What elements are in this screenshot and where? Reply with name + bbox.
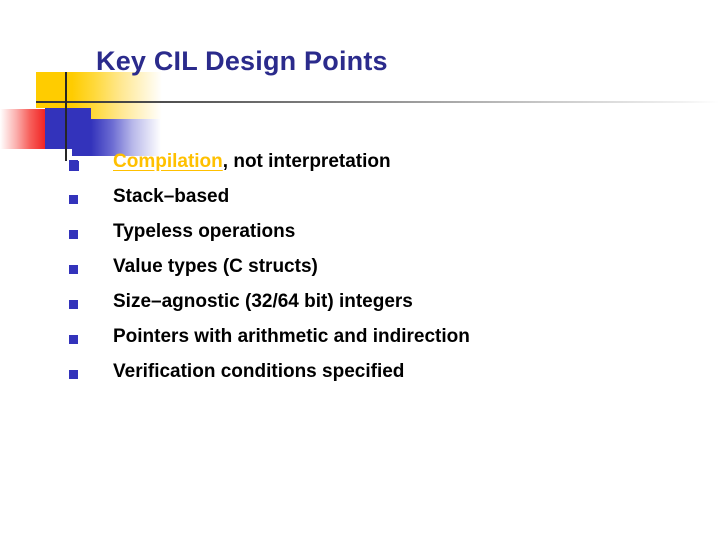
- list-item: Pointers with arithmetic and indirection: [0, 323, 719, 358]
- horizontal-rule: [36, 101, 719, 103]
- bullet-item-text: Stack–based: [113, 183, 229, 211]
- bullet-square-icon: [69, 300, 78, 309]
- list-item: Compilation, not interpretation: [0, 148, 719, 183]
- list-item: Typeless operations: [0, 218, 719, 253]
- blue-square-shape-left: [45, 108, 72, 149]
- list-item: Verification conditions specified: [0, 358, 719, 393]
- bullet-square-icon: [69, 370, 78, 379]
- bullet-item-text: Typeless operations: [113, 218, 295, 246]
- page-title: Key CIL Design Points: [96, 46, 388, 77]
- hyperlink-compilation[interactable]: Compilation: [113, 151, 223, 172]
- bullet-square-icon: [69, 230, 78, 239]
- bullet-square-icon: [69, 335, 78, 344]
- list-item: Size–agnostic (32/64 bit) integers: [0, 288, 719, 323]
- red-gradient-shape: [0, 109, 46, 149]
- bullet-square-icon: [69, 265, 78, 274]
- bullet-item-text: Size–agnostic (32/64 bit) integers: [113, 288, 413, 316]
- bullet-square-icon: [69, 160, 78, 169]
- slide-canvas: Key CIL Design Points Compilation, not i…: [0, 0, 719, 539]
- list-item: Stack–based: [0, 183, 719, 218]
- bullet-item-text: Value types (C structs): [113, 253, 318, 281]
- bullet-item-rest: , not interpretation: [223, 151, 391, 172]
- bullet-item-text: Compilation, not interpretation: [113, 148, 391, 176]
- bullet-list: Compilation, not interpretation Stack–ba…: [0, 148, 719, 393]
- bullet-item-text: Pointers with arithmetic and indirection: [113, 323, 470, 351]
- bullet-square-icon: [69, 195, 78, 204]
- list-item: Value types (C structs): [0, 253, 719, 288]
- bullet-item-text: Verification conditions specified: [113, 358, 404, 386]
